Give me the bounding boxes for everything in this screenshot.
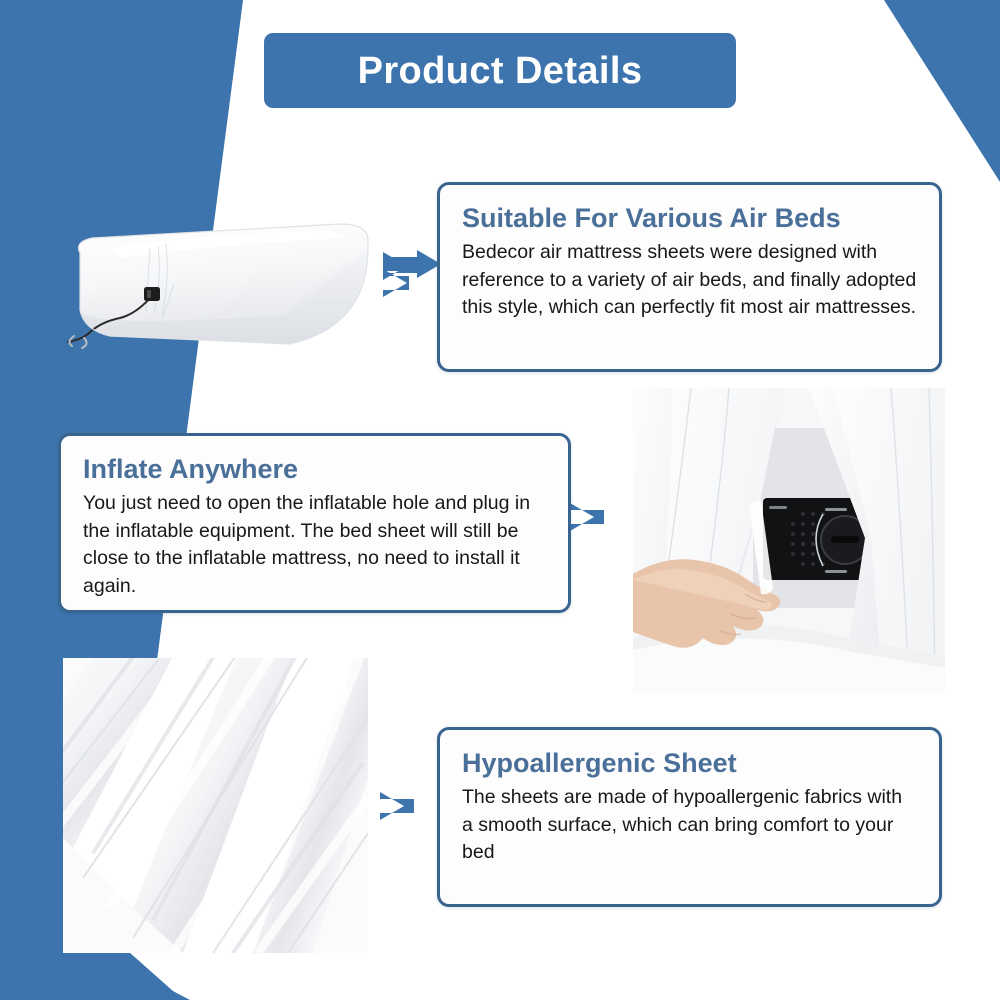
double-arrow-horizontal-icon-2 — [568, 500, 632, 550]
feature-card-body: You just need to open the inflatable hol… — [83, 490, 546, 601]
product-details-infographic: Product Details — [0, 0, 1000, 1000]
feature-card-body: The sheets are made of hypoallergenic fa… — [462, 784, 917, 867]
double-arrow-horizontal-icon-3 — [378, 789, 442, 839]
feature-card-title: Hypoallergenic Sheet — [462, 748, 917, 779]
feature-card-suitable-for-various-air-beds: Suitable For Various Air Beds Bedecor ai… — [437, 182, 942, 372]
drawstring-toggle — [144, 287, 160, 301]
feature-card-hypoallergenic-sheet: Hypoallergenic Sheet The sheets are made… — [437, 727, 942, 907]
page-title-banner: Product Details — [264, 33, 736, 108]
feature-photo-air-mattress — [50, 218, 380, 363]
feature-photo-fabric-closeup — [63, 658, 368, 953]
feature-card-title: Inflate Anywhere — [83, 454, 546, 485]
double-arrow-horizontal-icon-1 — [381, 249, 445, 299]
feature-card-inflate-anywhere: Inflate Anywhere You just need to open t… — [58, 433, 571, 613]
page-title: Product Details — [358, 52, 643, 90]
feature-card-title: Suitable For Various Air Beds — [462, 203, 917, 234]
feature-card-body: Bedecor air mattress sheets were designe… — [462, 239, 917, 322]
feature-photo-inflate-hole — [633, 388, 945, 693]
